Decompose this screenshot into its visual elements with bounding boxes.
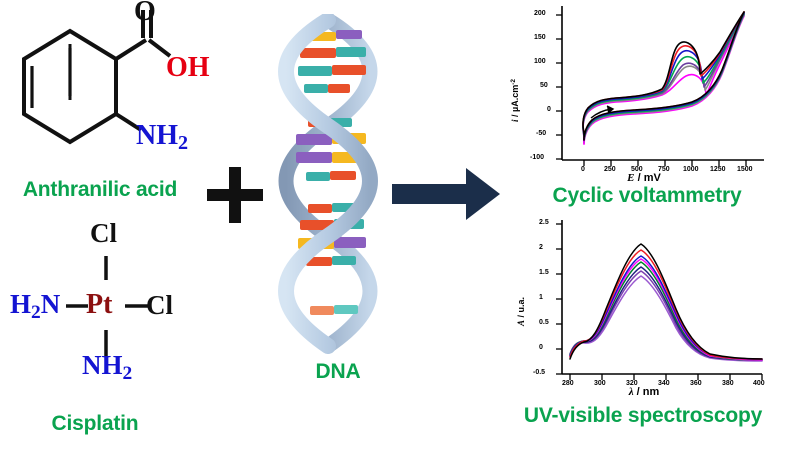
atom-label-amine-bottom: NH2 bbox=[82, 350, 132, 385]
uv-ytick-0p0: 0 bbox=[539, 344, 543, 351]
atom-label-oxygen: O bbox=[134, 0, 156, 28]
cisplatin-caption: Cisplatin bbox=[0, 412, 190, 436]
atom-label-chlorine-right: Cl bbox=[146, 290, 173, 321]
atom-label-amine: NH2 bbox=[136, 120, 188, 155]
dna-helix-svg bbox=[278, 14, 398, 354]
cyclic-voltammetry-plot: 200 150 100 50 0 -50 -100 0 250 500 750 … bbox=[494, 2, 794, 174]
uv-ytick-neg0p5: -0.5 bbox=[533, 369, 545, 376]
cv-x-unit: mV bbox=[644, 172, 661, 184]
anthranilic-acid-structure: O OH NH2 bbox=[8, 4, 198, 179]
cyclic-voltammetry-caption: Cyclic voltammetry bbox=[494, 184, 800, 208]
uv-y-symbol: A bbox=[516, 320, 526, 326]
dna-base-pairs bbox=[296, 30, 366, 315]
cv-svg bbox=[494, 2, 794, 174]
dna-caption: DNA bbox=[278, 360, 398, 384]
cv-y-symbol: i bbox=[510, 119, 520, 122]
process-arrow bbox=[392, 168, 502, 220]
cv-ytick-0: 0 bbox=[547, 106, 551, 113]
dna-helix bbox=[278, 14, 398, 354]
cv-ytick-50: 50 bbox=[540, 82, 548, 89]
cv-ytick-100: 100 bbox=[534, 58, 546, 65]
cv-y-exponent: -2 bbox=[510, 79, 517, 85]
uv-x-symbol: λ bbox=[629, 386, 634, 398]
uvvis-svg bbox=[494, 214, 794, 390]
uv-x-unit: nm bbox=[643, 386, 660, 398]
cv-ytick-neg100: -100 bbox=[530, 154, 544, 161]
anthranilic-acid-caption: Anthranilic acid bbox=[0, 178, 200, 202]
atom-label-amine-left: H2N bbox=[10, 289, 60, 324]
cv-ytick-neg50: -50 bbox=[536, 130, 546, 137]
cv-ytick-150: 150 bbox=[534, 34, 546, 41]
uv-y-unit: u.a. bbox=[516, 297, 526, 313]
atom-label-platinum: Pt bbox=[86, 289, 112, 321]
atom-label-hydroxyl: OH bbox=[166, 52, 210, 84]
uv-y-axis-label: A / u.a. bbox=[516, 297, 526, 326]
uv-visible-plot: 2.5 2 1.5 1 0.5 0 -0.5 280 300 320 340 3… bbox=[494, 214, 794, 390]
cv-x-axis-label: E / mV bbox=[494, 172, 794, 184]
plus-sign bbox=[205, 165, 265, 225]
cv-ytick-200: 200 bbox=[534, 10, 546, 17]
uv-ytick-2p5: 2.5 bbox=[539, 219, 549, 226]
uv-ytick-1p0: 1 bbox=[539, 294, 543, 301]
graphical-abstract: O OH NH2 Anthranilic acid Cl Cl Pt H2N N… bbox=[0, 0, 800, 450]
cisplatin-structure: Cl Cl Pt H2N NH2 bbox=[10, 222, 200, 402]
uv-x-axis-label: λ / nm bbox=[494, 386, 794, 398]
cv-y-axis-label: i / µA.cm-2 bbox=[510, 79, 520, 122]
plus-vertical-bar bbox=[229, 167, 241, 223]
atom-label-chlorine-top: Cl bbox=[90, 218, 117, 249]
uv-ytick-0p5: 0.5 bbox=[539, 319, 549, 326]
cv-y-unit: µA.cm bbox=[510, 85, 520, 112]
uv-ytick-2p0: 2 bbox=[539, 244, 543, 251]
cv-x-symbol: E bbox=[627, 172, 634, 184]
amine-subscript: 2 bbox=[178, 132, 188, 154]
amine-main: NH bbox=[136, 120, 178, 151]
arrow-shaft bbox=[392, 184, 470, 204]
uv-visible-caption: UV-visible spectroscopy bbox=[486, 404, 800, 428]
uv-ytick-1p5: 1.5 bbox=[539, 269, 549, 276]
